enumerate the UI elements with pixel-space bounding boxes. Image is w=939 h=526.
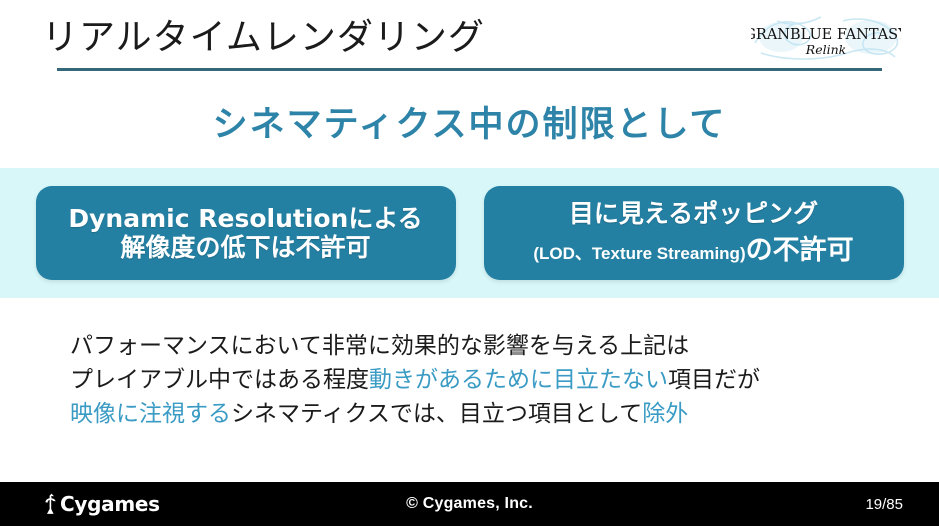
body-segment: 項目だが <box>668 367 760 393</box>
callout-paren-text: (LOD、Texture Streaming) <box>533 239 745 264</box>
dynamic-resolution-callout: Dynamic Resolutionによる 解像度の低下は不許可 <box>36 186 456 280</box>
callout-tail-text: の不許可 <box>746 228 854 267</box>
granblue-fantasy-relink-logo: GRANBLUE FANTASY Relink <box>751 13 901 65</box>
body-segment: シネマティクスでは、目立つ項目として <box>231 401 642 427</box>
slide-footer: Cygames © Cygames, Inc. 19/85 <box>0 482 939 526</box>
callout-row: Dynamic Resolutionによる 解像度の低下は不許可 目に見えるポッ… <box>0 168 939 298</box>
body-segment-highlight: 除外 <box>642 401 688 427</box>
popping-callout: 目に見えるポッピング (LOD、Texture Streaming) の不許可 <box>484 186 904 280</box>
copyright-text: © Cygames, Inc. <box>0 482 939 526</box>
body-segment: プレイアブル中ではある程度 <box>70 367 369 393</box>
body-segment-highlight: 映像に注視する <box>70 401 231 427</box>
slide: リアルタイムレンダリング GRANBLUE FANTASY Relink シネマ… <box>0 0 939 526</box>
callout-line-2: 解像度の低下は不許可 <box>120 233 370 262</box>
logo-subtitle-text: Relink <box>805 42 846 57</box>
slide-header: リアルタイムレンダリング GRANBLUE FANTASY Relink <box>0 0 939 72</box>
logo-title-text: GRANBLUE FANTASY <box>751 27 901 43</box>
page-number: 19/85 <box>865 482 903 526</box>
slide-subtitle: シネマティクス中の制限として <box>0 96 939 147</box>
body-line-2: プレイアブル中ではある程度動きがあるために目立たない項目だが <box>70 364 890 398</box>
body-text-block: パフォーマンスにおいて非常に効果的な影響を与える上記は プレイアブル中ではある程… <box>70 330 890 431</box>
body-line-1: パフォーマンスにおいて非常に効果的な影響を与える上記は <box>70 330 890 364</box>
callout-line-1: Dynamic Resolutionによる <box>68 204 422 233</box>
body-line-3: 映像に注視するシネマティクスでは、目立つ項目として除外 <box>70 398 890 432</box>
page-title: リアルタイムレンダリング <box>42 8 485 60</box>
header-divider <box>57 68 882 71</box>
body-segment-highlight: 動きがあるために目立たない <box>369 367 668 393</box>
body-segment: パフォーマンスにおいて非常に効果的な影響を与える上記は <box>70 333 689 359</box>
callout-line-2: (LOD、Texture Streaming) の不許可 <box>533 228 853 267</box>
callout-line-1: 目に見えるポッピング <box>569 199 818 228</box>
